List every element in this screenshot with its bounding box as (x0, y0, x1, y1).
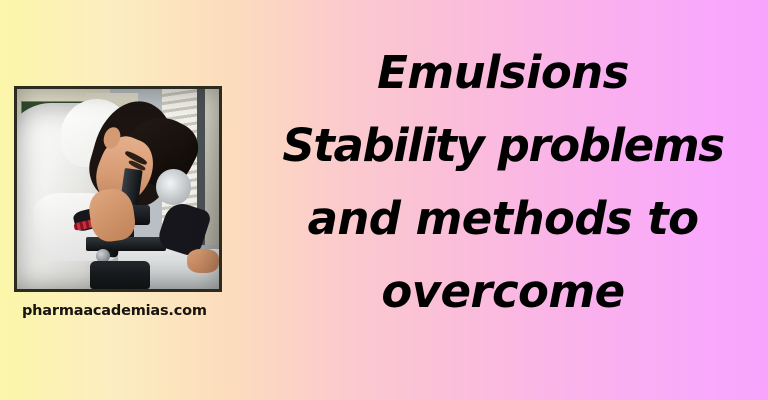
headline-line-3: and methods to (308, 182, 699, 255)
headline-line-2: Stability problems (282, 109, 723, 182)
photo-microscope-base (90, 261, 151, 289)
page-title: Emulsions Stability problems and methods… (250, 36, 756, 366)
photo-column: pharmaacademias.com (0, 0, 240, 400)
microscope-photo-frame (14, 86, 222, 292)
microscope-photo (17, 89, 219, 289)
site-watermark: pharmaacademias.com (22, 303, 207, 319)
photo-microscope-mirror (156, 169, 190, 205)
headline-line-1: Emulsions (377, 36, 629, 109)
photo-wall-right (205, 89, 219, 261)
photo-microscope-stage (86, 237, 167, 251)
photo-second-hand (187, 249, 219, 273)
article-banner: pharmaacademias.com Emulsions Stability … (0, 0, 768, 400)
headline-line-4: overcome (381, 255, 624, 328)
